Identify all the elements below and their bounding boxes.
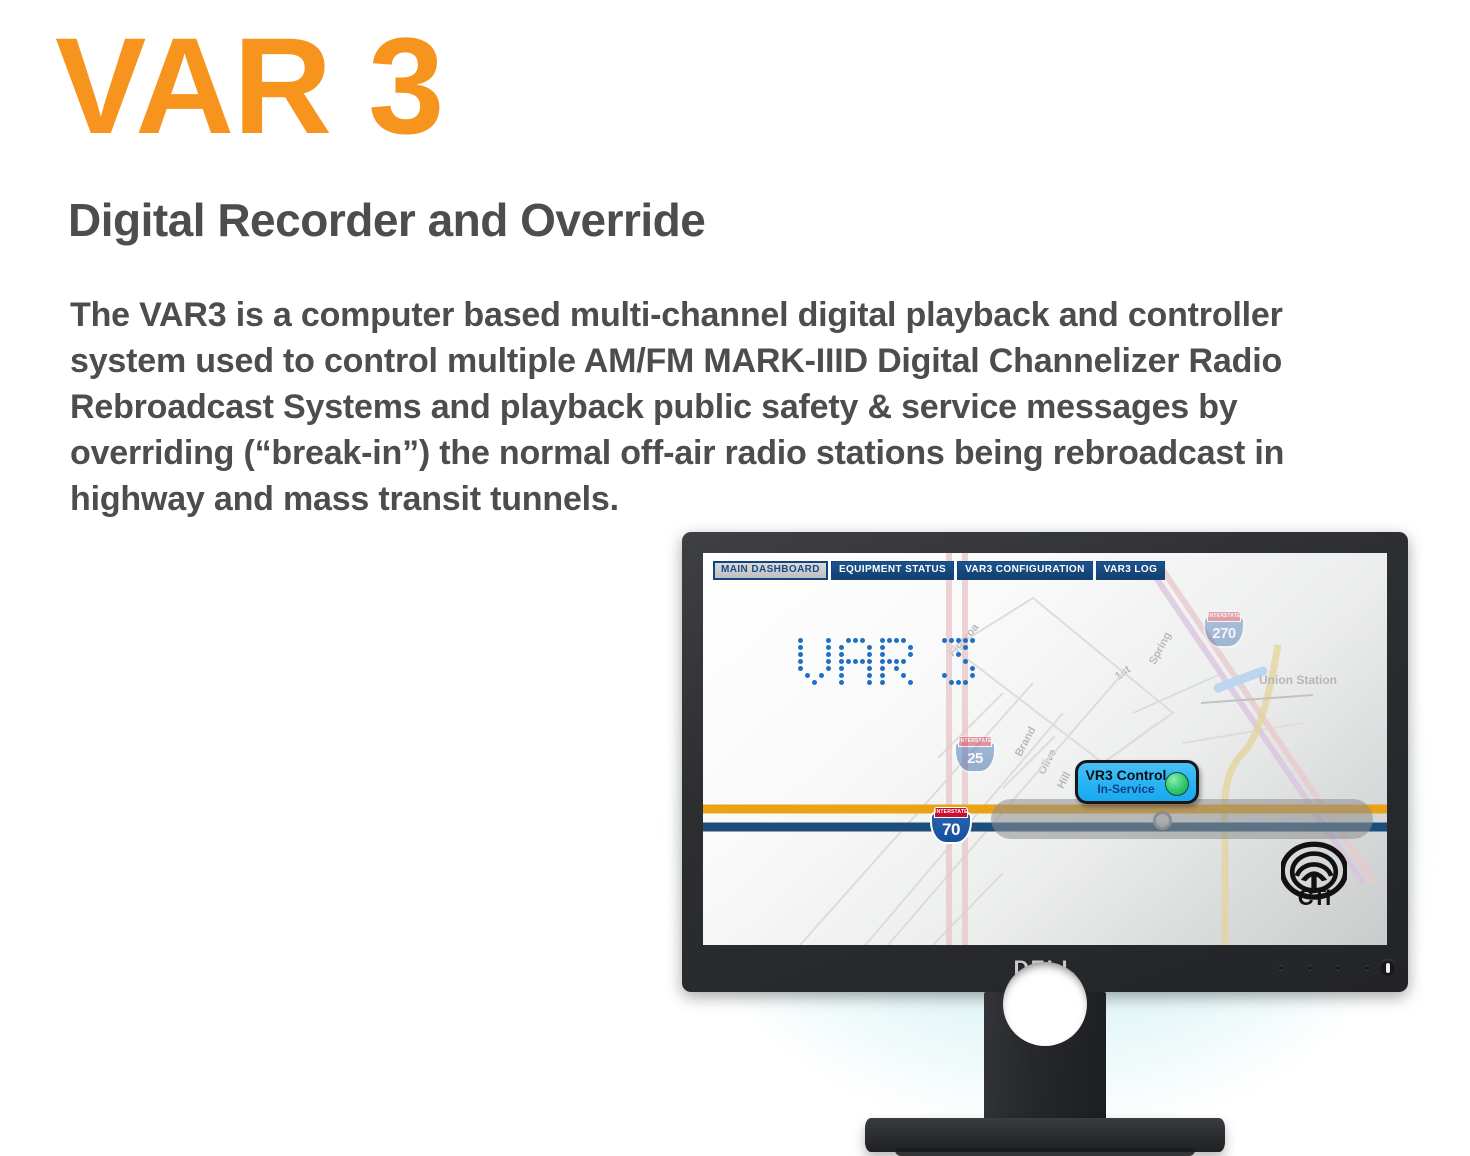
monitor: Figeroa Brand Olive Hill 1st Spring Unio… — [660, 520, 1460, 1140]
shield-banner: INTERSTATE — [958, 736, 992, 747]
tab-main-dashboard[interactable]: MAIN DASHBOARD — [713, 561, 828, 580]
dot-matrix-char — [880, 638, 914, 686]
vr3-status-badge: In-Service — [1097, 783, 1154, 796]
interstate-shield-70: 70 INTERSTATE — [930, 807, 972, 844]
stand-cable-cutout — [1003, 962, 1087, 1046]
cti-logo-text: CTI — [1281, 885, 1347, 911]
osd-button-group[interactable] — [1278, 965, 1370, 970]
monitor-bezel: Figeroa Brand Olive Hill 1st Spring Unio… — [682, 532, 1408, 992]
tab-bar: MAIN DASHBOARD EQUIPMENT STATUS VAR3 CON… — [713, 561, 1165, 580]
tunnel-node-marker[interactable] — [1153, 811, 1172, 830]
shield-number: 25 — [967, 751, 983, 766]
tab-var3-configuration[interactable]: VAR3 CONFIGURATION — [957, 561, 1093, 580]
shield-banner: INTERSTATE — [1207, 611, 1241, 622]
place-label-union-station: Union Station — [1259, 673, 1337, 687]
page-title: VAR 3 — [55, 18, 443, 155]
status-led-icon — [1165, 772, 1189, 796]
var3-dot-matrix-display — [798, 638, 976, 686]
dot-matrix-char — [942, 638, 976, 686]
vr3-badge-title: VR3 Control — [1086, 768, 1167, 783]
page-subtitle: Digital Recorder and Override — [68, 193, 705, 247]
osd-button-2[interactable] — [1307, 965, 1312, 970]
tab-equipment-status[interactable]: EQUIPMENT STATUS — [831, 561, 954, 580]
shield-number: 70 — [942, 821, 960, 838]
monitor-stand-base — [865, 1118, 1225, 1152]
tab-var3-log[interactable]: VAR3 LOG — [1096, 561, 1166, 580]
osd-button-4[interactable] — [1365, 965, 1370, 970]
monitor-screen: Figeroa Brand Olive Hill 1st Spring Unio… — [703, 553, 1387, 945]
shield-banner: INTERSTATE — [934, 807, 968, 818]
osd-button-1[interactable] — [1278, 965, 1283, 970]
interstate-shield-270: 270 INTERSTATE — [1203, 611, 1245, 648]
interstate-shield-25: 25 INTERSTATE — [954, 736, 996, 773]
dot-matrix-char — [839, 638, 873, 686]
dot-matrix-char — [798, 638, 832, 686]
dot-matrix-space — [921, 638, 935, 686]
power-button[interactable] — [1379, 959, 1396, 976]
osd-button-3[interactable] — [1336, 965, 1341, 970]
shield-number: 270 — [1212, 626, 1236, 641]
power-led-icon — [1386, 963, 1390, 973]
tunnel-corridor — [991, 799, 1373, 839]
vr3-control-badge[interactable]: VR3 Control In-Service — [1075, 760, 1199, 804]
monitor-stand-base-lip — [895, 1148, 1195, 1156]
page-body-text: The VAR3 is a computer based multi-chann… — [70, 292, 1370, 522]
